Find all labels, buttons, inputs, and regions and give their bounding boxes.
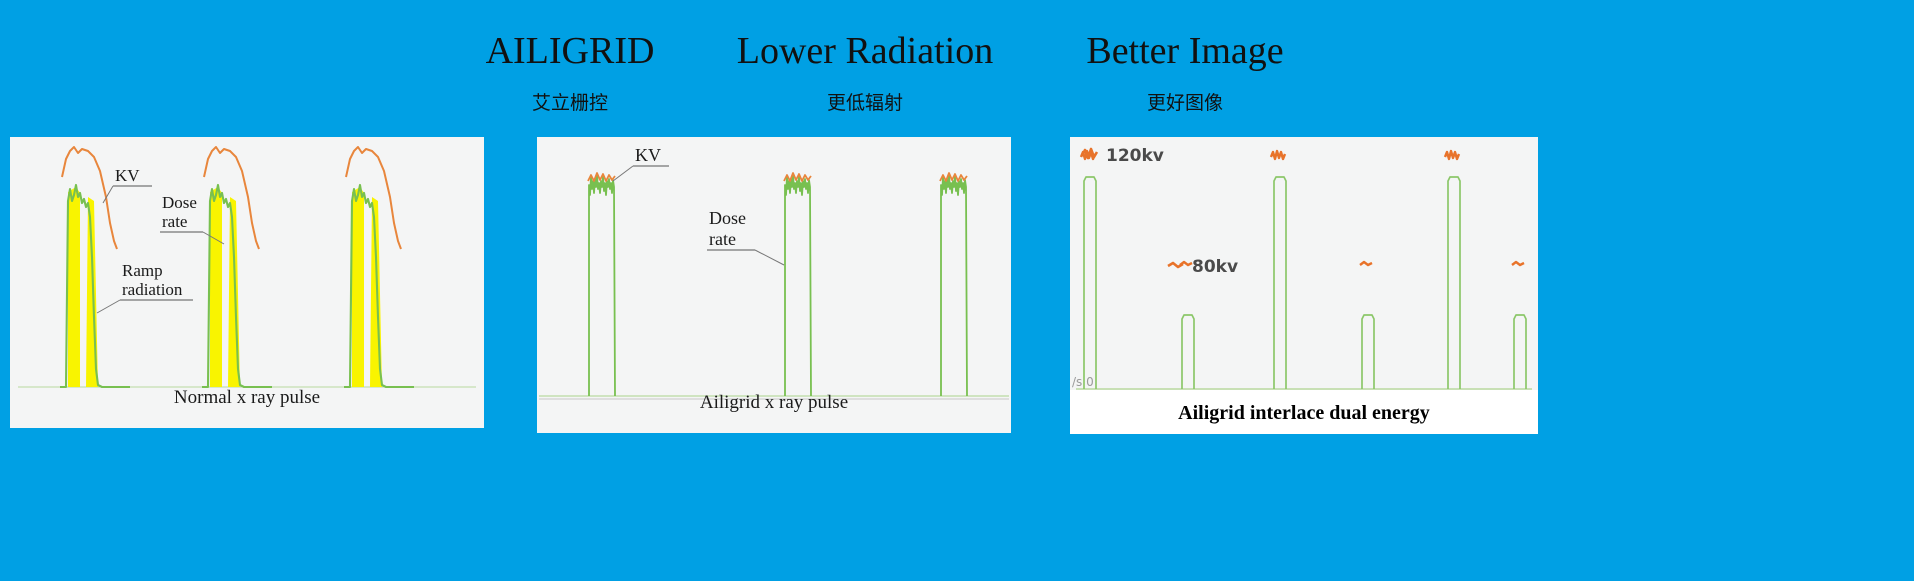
header-title-en: Better Image (1030, 32, 1340, 70)
legend-80kv-label: 80kv (1192, 257, 1238, 277)
pulse-80kv-3 (1512, 262, 1526, 389)
annotation-kv-label: KV (115, 166, 140, 185)
legend-80kv: 80kv (1168, 257, 1238, 277)
header-title-en: Lower Radiation (700, 32, 1030, 70)
pulse-120kv-3 (1445, 151, 1460, 389)
annotation-dose-rate-line2: rate (162, 212, 187, 231)
annotation-kv: KV (103, 166, 152, 203)
annotation-ramp-line2: radiation (122, 280, 183, 299)
pulse-2 (784, 173, 811, 396)
header-column-better-image: Better Image 更好图像 (1030, 32, 1340, 115)
header-title-cn: 更好图像 (1030, 88, 1340, 115)
chart-plot-normal-x-ray-pulse: KV Dose rate Ramp radiation (10, 137, 484, 428)
annotation-dose-rate-line1: Dose (162, 193, 197, 212)
chart-panel-ailigrid-interlace-dual-energy: 120kv 80kv /s 0 Ailigrid interlace dual … (1070, 137, 1538, 434)
panel-caption: Ailigrid x ray pulse (537, 392, 1011, 414)
chart-panel-ailigrid-x-ray-pulse: KV Dose rate Ailigrid x ray pulse (537, 137, 1011, 433)
axis-label: /s 0 (1072, 375, 1094, 389)
annotation-ramp-radiation: Ramp radiation (97, 261, 193, 313)
pulse-3 (940, 173, 967, 396)
chart-plot-ailigrid-x-ray-pulse: KV Dose rate (537, 137, 1011, 433)
annotation-ramp-line1: Ramp (122, 261, 163, 280)
annotation-kv-label: KV (635, 145, 661, 165)
pulse-80kv-2 (1360, 262, 1374, 389)
header-banner: AILIGRID 艾立栅控 Lower Radiation 更低辐射 Bette… (0, 0, 1914, 130)
header-column-brand: AILIGRID 艾立栅控 (430, 32, 710, 115)
header-title-cn: 艾立栅控 (430, 88, 710, 115)
pulse-120kv-2 (1271, 151, 1286, 389)
pulse-80kv-1 (1180, 262, 1194, 389)
panel-caption: Ailigrid interlace dual energy (1070, 402, 1538, 425)
pulse-120kv-1 (1081, 151, 1096, 389)
chart-panel-normal-x-ray-pulse: KV Dose rate Ramp radiation Normal x ray… (10, 137, 484, 428)
annotation-dose-rate: Dose rate (707, 208, 784, 265)
header-title-cn: 更低辐射 (700, 88, 1030, 115)
annotation-dose-rate-line2: rate (709, 229, 736, 249)
annotation-kv: KV (613, 145, 669, 181)
legend-120kv: 120kv (1082, 146, 1164, 166)
annotation-dose-rate-line1: Dose (709, 208, 746, 228)
panel-caption: Normal x ray pulse (10, 387, 484, 409)
header-title-en: AILIGRID (430, 32, 710, 70)
header-column-lower-radiation: Lower Radiation 更低辐射 (700, 32, 1030, 115)
legend-120kv-label: 120kv (1106, 146, 1164, 166)
pulse-1 (588, 173, 615, 396)
